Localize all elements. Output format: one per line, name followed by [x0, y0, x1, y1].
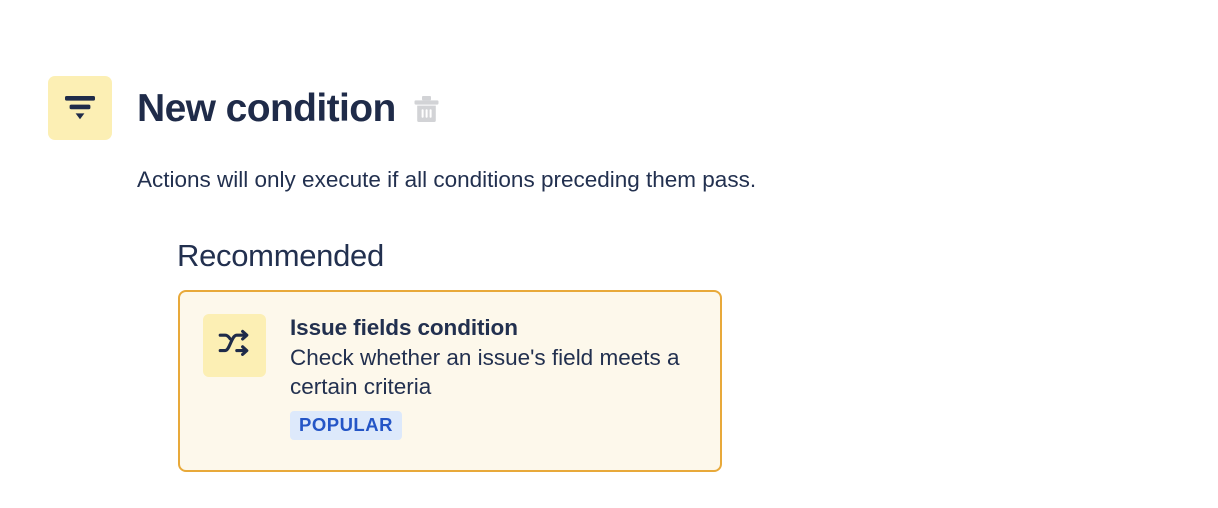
page-header: New condition	[48, 76, 442, 140]
title-group: New condition	[137, 76, 442, 140]
card-title: Issue fields condition	[290, 315, 690, 342]
card-badge-row: POPULAR	[290, 411, 690, 439]
new-condition-page: New condition Actions will only execute …	[0, 0, 1218, 508]
popular-badge: POPULAR	[290, 411, 402, 439]
card-description: Check whether an issue's field meets a c…	[290, 343, 690, 403]
card-icon-tile	[203, 314, 266, 377]
condition-card-issue-fields[interactable]: Issue fields condition Check whether an …	[178, 290, 722, 472]
shuffle-icon	[218, 329, 252, 362]
card-text-group: Issue fields condition Check whether an …	[290, 314, 690, 440]
recommended-heading: Recommended	[177, 240, 384, 271]
filter-funnel-icon	[64, 95, 96, 121]
trash-icon	[413, 95, 440, 126]
card-content: Issue fields condition Check whether an …	[180, 292, 720, 440]
condition-type-icon-tile	[48, 76, 112, 140]
delete-condition-button[interactable]	[412, 95, 442, 125]
page-title: New condition	[137, 89, 396, 128]
page-subtitle: Actions will only execute if all conditi…	[137, 165, 756, 195]
